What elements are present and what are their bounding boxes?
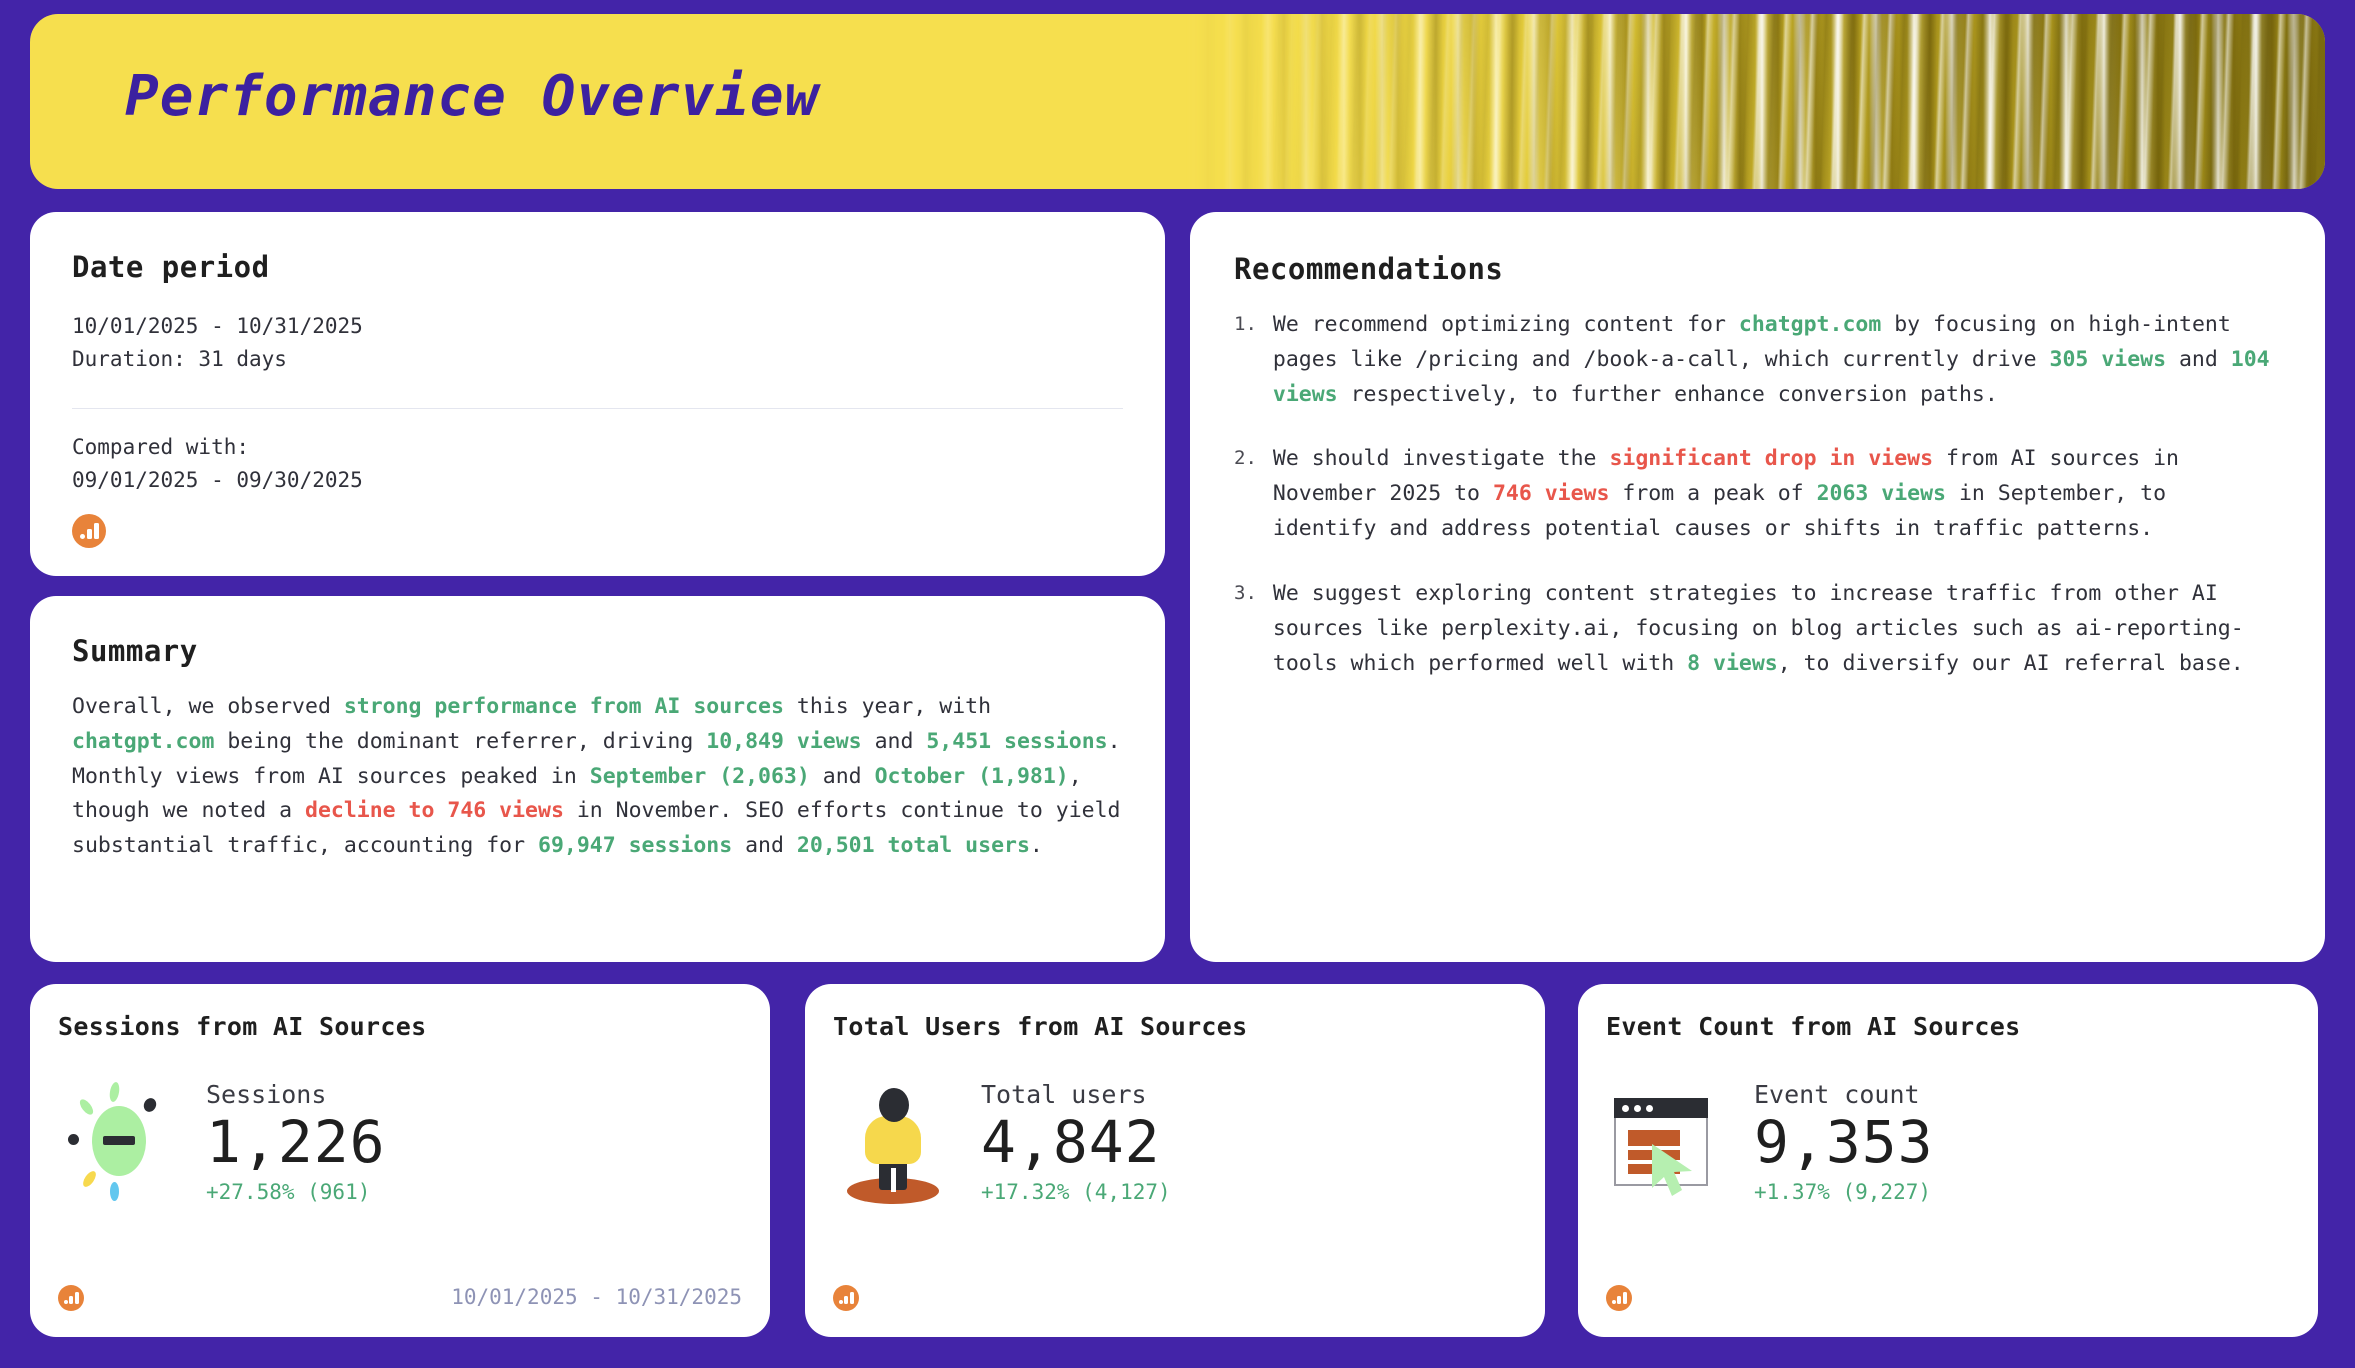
metric-value: 9,353 — [1754, 1109, 1934, 1176]
gold-decoration-overlay — [1185, 14, 2325, 189]
recommendation-item: 3. We suggest exploring content strategi… — [1234, 577, 2279, 681]
date-period-heading: Date period — [72, 250, 1123, 284]
recommendation-number: 3. — [1234, 577, 1257, 681]
metric-delta: +27.58% (961) — [206, 1180, 386, 1204]
summary-heading: Summary — [72, 634, 1123, 668]
metric-label: Sessions — [206, 1080, 386, 1109]
sessions-sun-icon — [58, 1082, 178, 1202]
metric-label: Event count — [1754, 1080, 1934, 1109]
recommendations-list: 1. We recommend optimizing content for c… — [1234, 308, 2279, 681]
recommendation-number: 2. — [1234, 442, 1257, 546]
recommendation-text: We suggest exploring content strategies … — [1273, 577, 2279, 681]
summary-paragraph: Overall, we observed strong performance … — [72, 690, 1123, 864]
metric-date-range: 10/01/2025 - 10/31/2025 — [451, 1285, 742, 1309]
cursor-icon — [1650, 1142, 1706, 1202]
google-analytics-icon — [833, 1285, 859, 1315]
recommendations-heading: Recommendations — [1234, 252, 2279, 286]
date-period-duration: Duration: 31 days — [72, 343, 1123, 376]
recommendation-text: We should investigate the significant dr… — [1273, 442, 2279, 546]
dashboard-page: Performance Overview Date period 10/01/2… — [0, 0, 2355, 1368]
metric-value: 1,226 — [206, 1109, 386, 1176]
google-analytics-icon — [1606, 1285, 1632, 1315]
google-analytics-icon — [58, 1285, 84, 1315]
browser-click-icon — [1606, 1082, 1726, 1202]
compared-with-range: 09/01/2025 - 09/30/2025 — [72, 464, 1123, 497]
metric-card-title: Sessions from AI Sources — [58, 1012, 426, 1041]
page-title: Performance Overview — [125, 64, 819, 129]
metric-value: 4,842 — [981, 1109, 1171, 1176]
metric-card-sessions: Sessions from AI Sources Sessions 1,226 … — [30, 984, 770, 1337]
date-period-range: 10/01/2025 - 10/31/2025 — [72, 310, 1123, 343]
metric-delta: +17.32% (4,127) — [981, 1180, 1171, 1204]
header-banner: Performance Overview — [30, 14, 2325, 189]
summary-card: Summary Overall, we observed strong perf… — [30, 596, 1165, 962]
user-person-icon — [833, 1082, 953, 1202]
recommendation-item: 1. We recommend optimizing content for c… — [1234, 308, 2279, 412]
metric-card-event-count: Event Count from AI Sources Event count … — [1578, 984, 2318, 1337]
metric-card-title: Event Count from AI Sources — [1606, 1012, 2020, 1041]
google-analytics-icon — [72, 514, 106, 552]
recommendation-number: 1. — [1234, 308, 1257, 412]
metric-card-total-users: Total Users from AI Sources Total users … — [805, 984, 1545, 1337]
recommendations-card: Recommendations 1. We recommend optimizi… — [1190, 212, 2325, 962]
metric-delta: +1.37% (9,227) — [1754, 1180, 1934, 1204]
recommendation-text: We recommend optimizing content for chat… — [1273, 308, 2279, 412]
metric-label: Total users — [981, 1080, 1171, 1109]
date-period-card: Date period 10/01/2025 - 10/31/2025 Dura… — [30, 212, 1165, 576]
recommendation-item: 2. We should investigate the significant… — [1234, 442, 2279, 546]
divider — [72, 408, 1123, 409]
compared-with-label: Compared with: — [72, 431, 1123, 464]
metric-card-title: Total Users from AI Sources — [833, 1012, 1247, 1041]
